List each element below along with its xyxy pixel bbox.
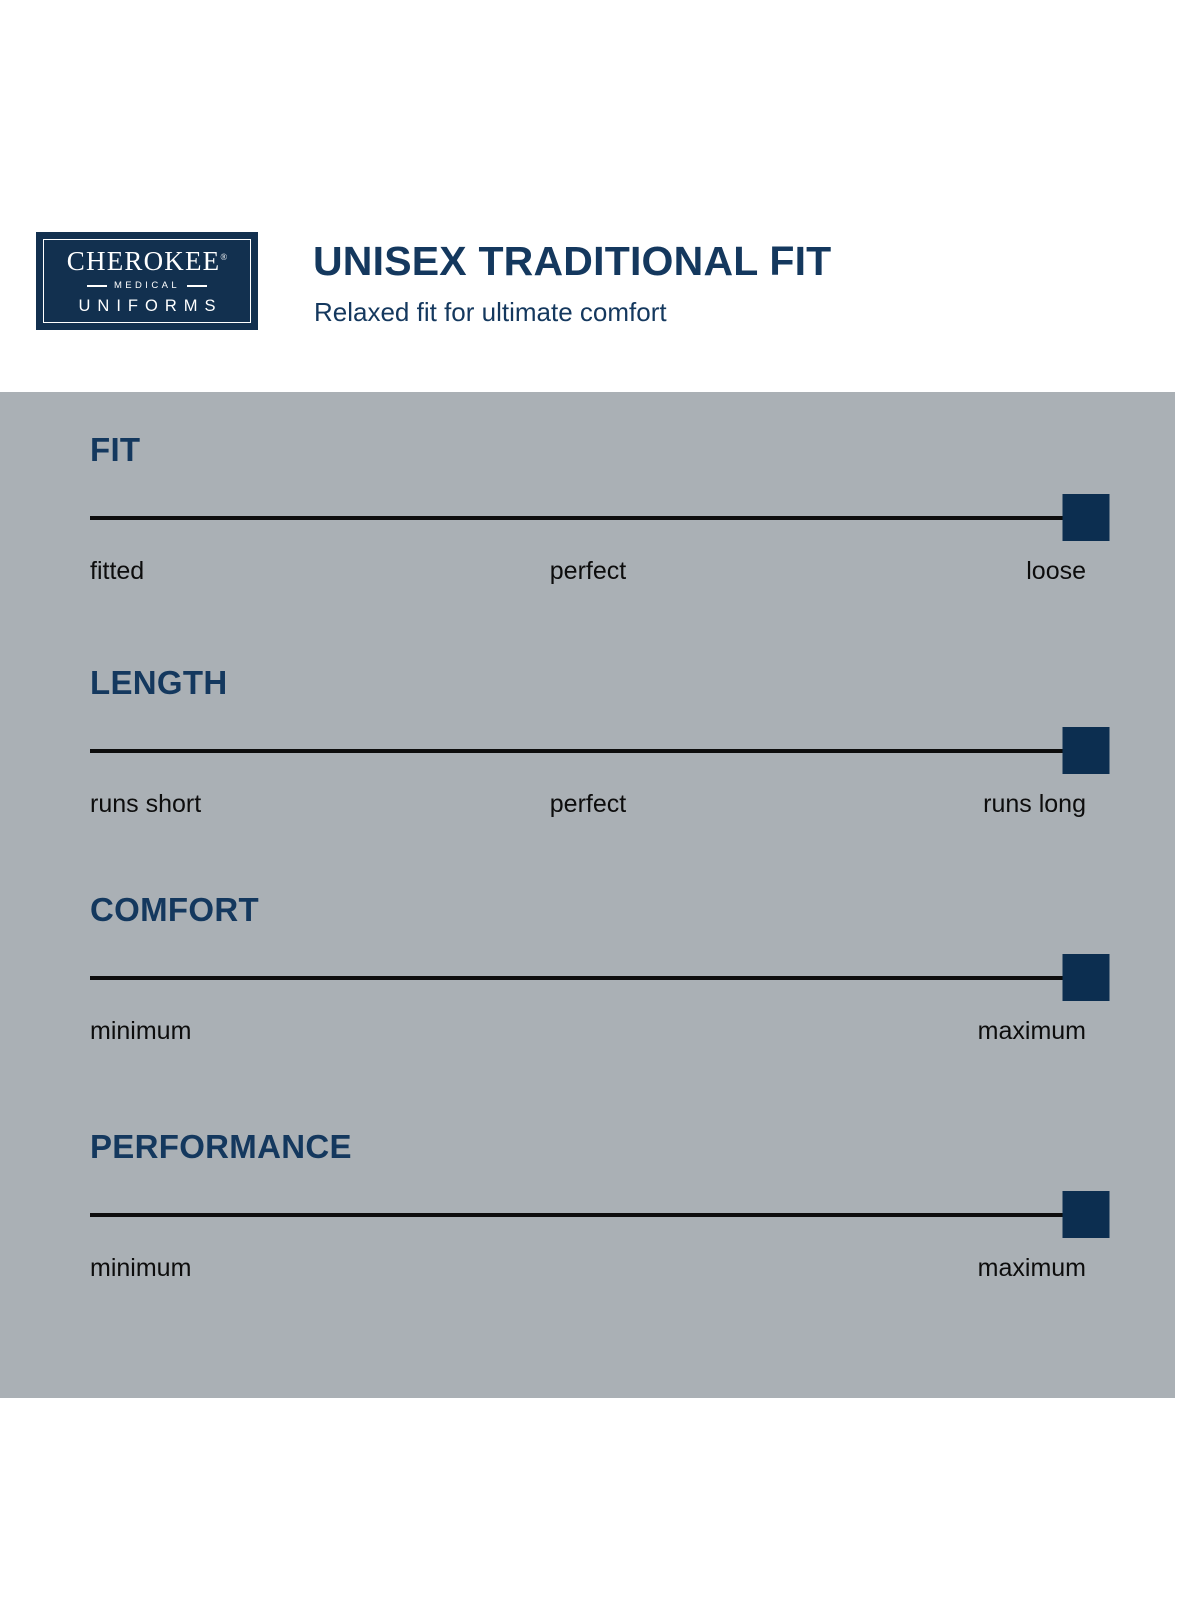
attribute-slider-comfort[interactable] — [90, 954, 1086, 1002]
logo-wordmark-text: CHEROKEE — [67, 246, 221, 276]
attribute-row-fit: FIT fitted perfect loose — [90, 433, 1086, 589]
slider-track[interactable] — [90, 976, 1086, 980]
attribute-row-performance: PERFORMANCE minimum maximum — [90, 1130, 1086, 1286]
attribute-scale-fit: fitted perfect loose — [90, 555, 1086, 589]
scale-label-mid: perfect — [550, 788, 626, 821]
scale-label-end: maximum — [978, 1015, 1086, 1048]
logo-inner-frame: CHEROKEE® MEDICAL UNIFORMS — [43, 239, 251, 323]
slider-marker[interactable] — [1063, 727, 1110, 774]
attribute-row-length: LENGTH runs short perfect runs long — [90, 666, 1086, 822]
logo-tagline-row: MEDICAL — [87, 281, 207, 291]
attribute-scale-length: runs short perfect runs long — [90, 788, 1086, 822]
logo-rule-left-icon — [87, 285, 107, 287]
registered-trademark-icon: ® — [220, 252, 227, 262]
slider-track[interactable] — [90, 749, 1086, 753]
scale-label-start: minimum — [90, 1015, 191, 1048]
logo-tagline: MEDICAL — [114, 281, 180, 291]
slider-track[interactable] — [90, 1213, 1086, 1217]
slider-track[interactable] — [90, 516, 1086, 520]
attribute-slider-performance[interactable] — [90, 1191, 1086, 1239]
slider-marker[interactable] — [1063, 1191, 1110, 1238]
attribute-label-performance: PERFORMANCE — [90, 1130, 1086, 1163]
scale-label-start: minimum — [90, 1252, 191, 1285]
attribute-slider-length[interactable] — [90, 727, 1086, 775]
scale-label-start: runs short — [90, 788, 201, 821]
cherokee-medical-uniforms-logo: CHEROKEE® MEDICAL UNIFORMS — [36, 232, 258, 330]
logo-rule-right-icon — [187, 285, 207, 287]
logo-wordmark: CHEROKEE® — [67, 248, 227, 275]
page-subtitle: Relaxed fit for ultimate comfort — [314, 298, 667, 327]
attribute-scale-performance: minimum maximum — [90, 1252, 1086, 1286]
scale-label-mid: perfect — [550, 555, 626, 588]
slider-marker[interactable] — [1063, 494, 1110, 541]
scale-label-start: fitted — [90, 555, 144, 588]
scale-label-end: loose — [1026, 555, 1086, 588]
attribute-scale-comfort: minimum maximum — [90, 1015, 1086, 1049]
slider-marker[interactable] — [1063, 954, 1110, 1001]
page-header: CHEROKEE® MEDICAL UNIFORMS UNISEX TRADIT… — [0, 0, 1200, 392]
fit-attributes-panel: FIT fitted perfect loose LENGTH runs sho… — [0, 392, 1175, 1398]
attribute-label-fit: FIT — [90, 433, 1086, 466]
logo-category: UNIFORMS — [72, 298, 223, 315]
page-title: UNISEX TRADITIONAL FIT — [313, 240, 831, 283]
attribute-label-length: LENGTH — [90, 666, 1086, 699]
attribute-slider-fit[interactable] — [90, 494, 1086, 542]
attribute-label-comfort: COMFORT — [90, 893, 1086, 926]
attribute-row-comfort: COMFORT minimum maximum — [90, 893, 1086, 1049]
scale-label-end: maximum — [978, 1252, 1086, 1285]
scale-label-end: runs long — [983, 788, 1086, 821]
